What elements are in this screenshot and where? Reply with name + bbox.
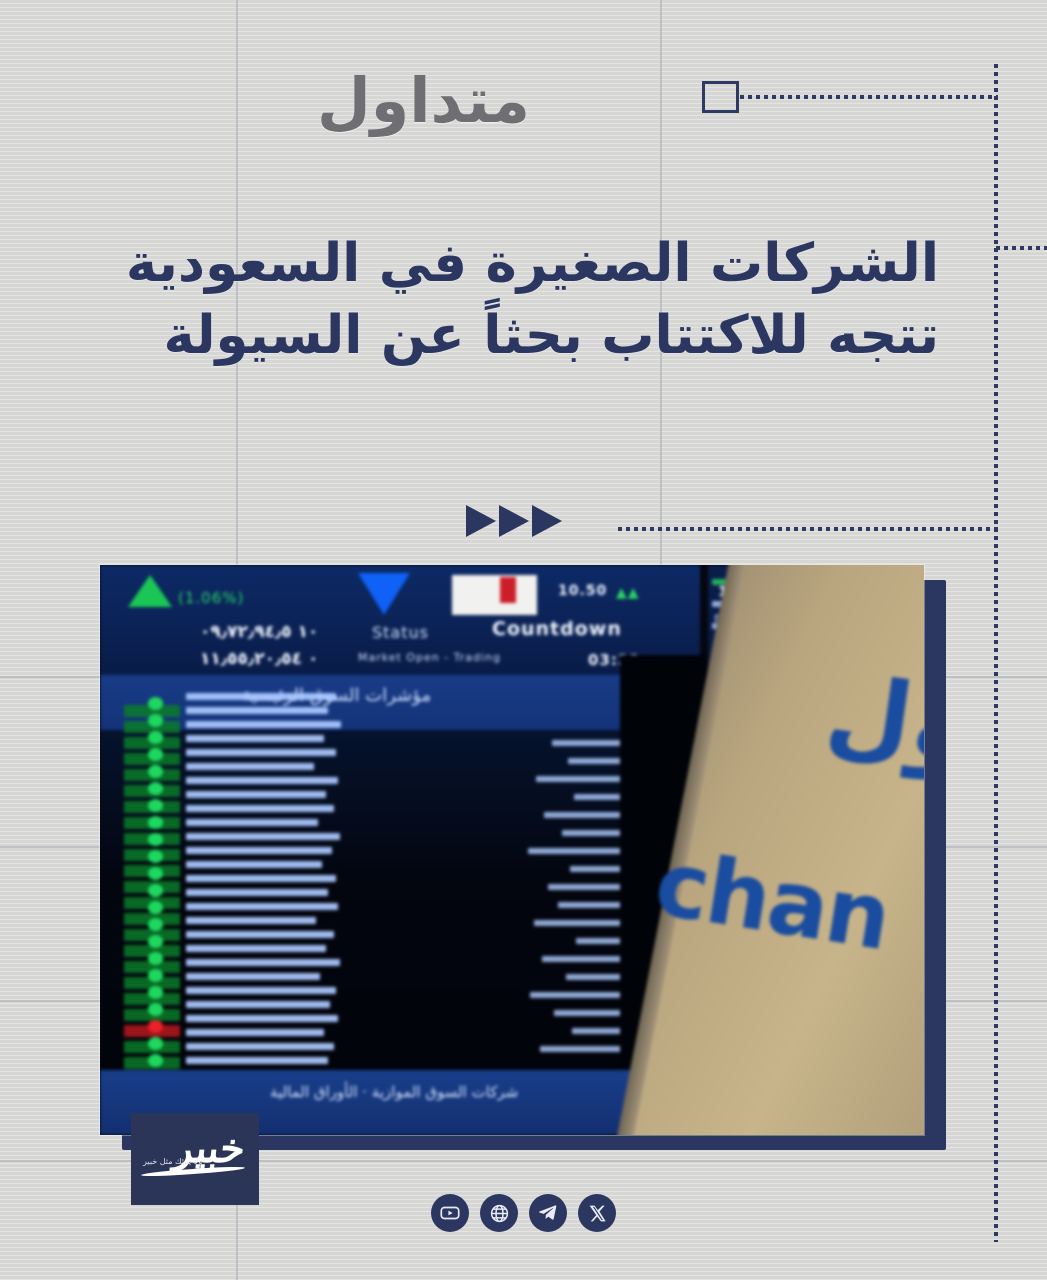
signage-latin: chan (648, 831, 896, 971)
page-title: الشركات الصغيرة في السعودية تتجه للاكتتا… (109, 228, 939, 372)
square-outline-icon (702, 81, 739, 113)
photo-status-label: Status (372, 623, 429, 642)
quote-columns (186, 693, 346, 1093)
photo-time: 10.50 (558, 583, 607, 599)
vertical-dotted-rail (994, 64, 998, 1242)
triangle-up-icon (128, 575, 172, 607)
dotted-connector-low (618, 527, 998, 531)
photo-market-state: Market Open - Trading (358, 651, 501, 664)
photo-ticker-2: ٠ ١١٫٥٥٫٢٠٫٥٤ (200, 649, 318, 669)
photo-percent: (1.06%) (178, 589, 244, 607)
signage-arabic: تداول (820, 653, 924, 804)
kicker-row: متداول (0, 46, 1047, 156)
youtube-icon[interactable] (431, 1194, 469, 1232)
social-links (0, 1194, 1047, 1232)
khabeer-logo: خبير ولا ينبئك مثل خبير (131, 1113, 259, 1205)
arrow-down-icon (358, 573, 410, 615)
listing-column (500, 740, 640, 1080)
telegram-icon[interactable] (529, 1194, 567, 1232)
triple-chevron-right-icon (466, 505, 562, 537)
logo-tagline: ولا ينبئك مثل خبير (143, 1157, 202, 1166)
ticker-dot-column (148, 697, 164, 1082)
globe-icon[interactable] (480, 1194, 518, 1232)
x-icon[interactable] (578, 1194, 616, 1232)
photo-countdown-label: Countdown (492, 618, 622, 640)
dotted-connector-mid (996, 246, 1047, 250)
kicker-label: متداول (317, 70, 530, 132)
ticker-ladder (110, 705, 180, 1075)
hero-photo: (1.06%) ١٠ ٠٩٫٧٢٫٩٤٫٥ ٠ ١١٫٥٥٫٢٠٫٥٤ Stat… (100, 565, 924, 1135)
photo-ticker-1: ١٠ ٠٩٫٧٢٫٩٤٫٥ (200, 622, 318, 642)
